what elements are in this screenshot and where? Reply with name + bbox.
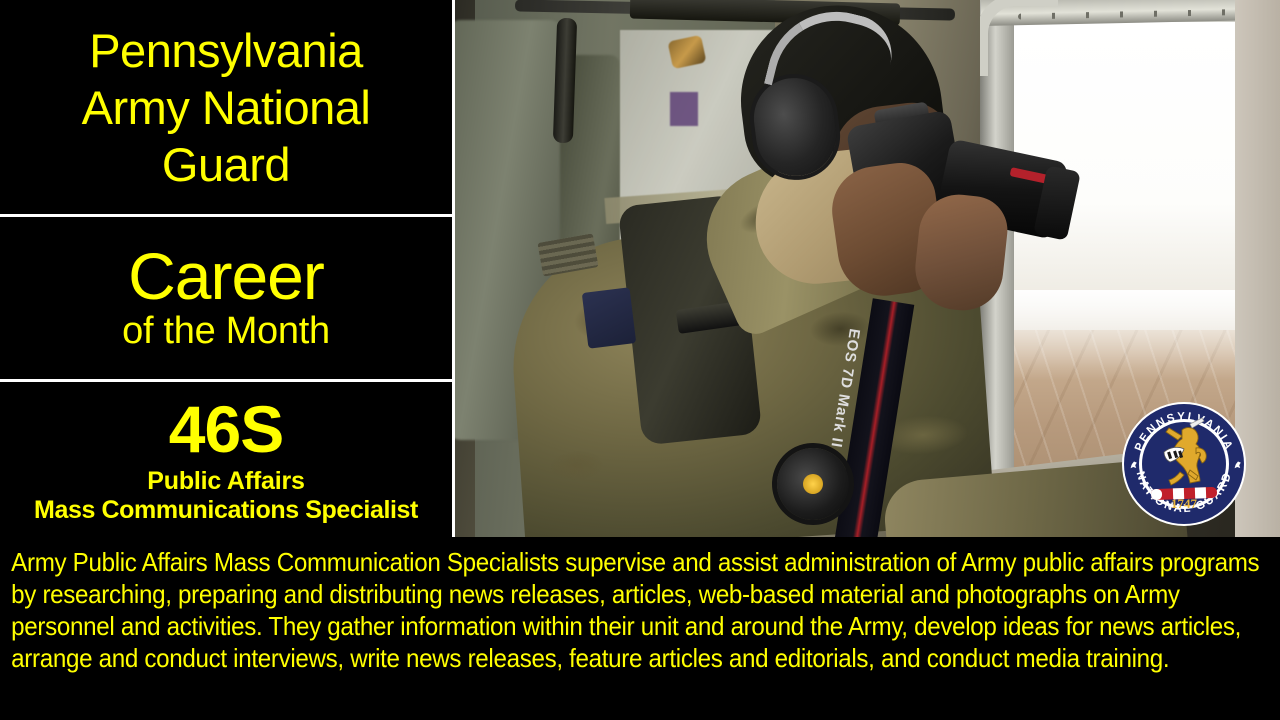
mos-code: 46S [169,395,283,463]
photo-watch-face [803,474,823,494]
unit-name-block: Pennsylvania Army National Guard [0,0,452,217]
emblem-year: 1747 [1171,496,1198,511]
photo-window-frame-corner [980,0,1058,76]
left-info-panel: Pennsylvania Army National Guard Career … [0,0,455,537]
feature-headline: Career [128,241,324,311]
career-of-the-month-poster: Pennsylvania Army National Guard Career … [0,0,1280,720]
pennsylvania-national-guard-emblem: PENNSYLVANIA NATIONAL GUARD [1120,400,1248,528]
career-description-text: Army Public Affairs Mass Communication S… [0,540,1280,720]
photo-purple-placard [670,92,698,126]
feature-title-block: Career of the Month [0,217,452,382]
unit-name-line-2: Army National [82,79,371,136]
mos-title-line-2: Mass Communications Specialist [34,496,418,525]
mos-block: 46S Public Affairs Mass Communications S… [0,382,452,537]
feature-subhead: of the Month [122,309,330,353]
photo-rank-patch [582,287,636,348]
unit-name-line-1: Pennsylvania [89,22,363,79]
unit-name-line-3: Guard [162,136,290,193]
mos-title-line-1: Public Affairs [147,467,304,496]
